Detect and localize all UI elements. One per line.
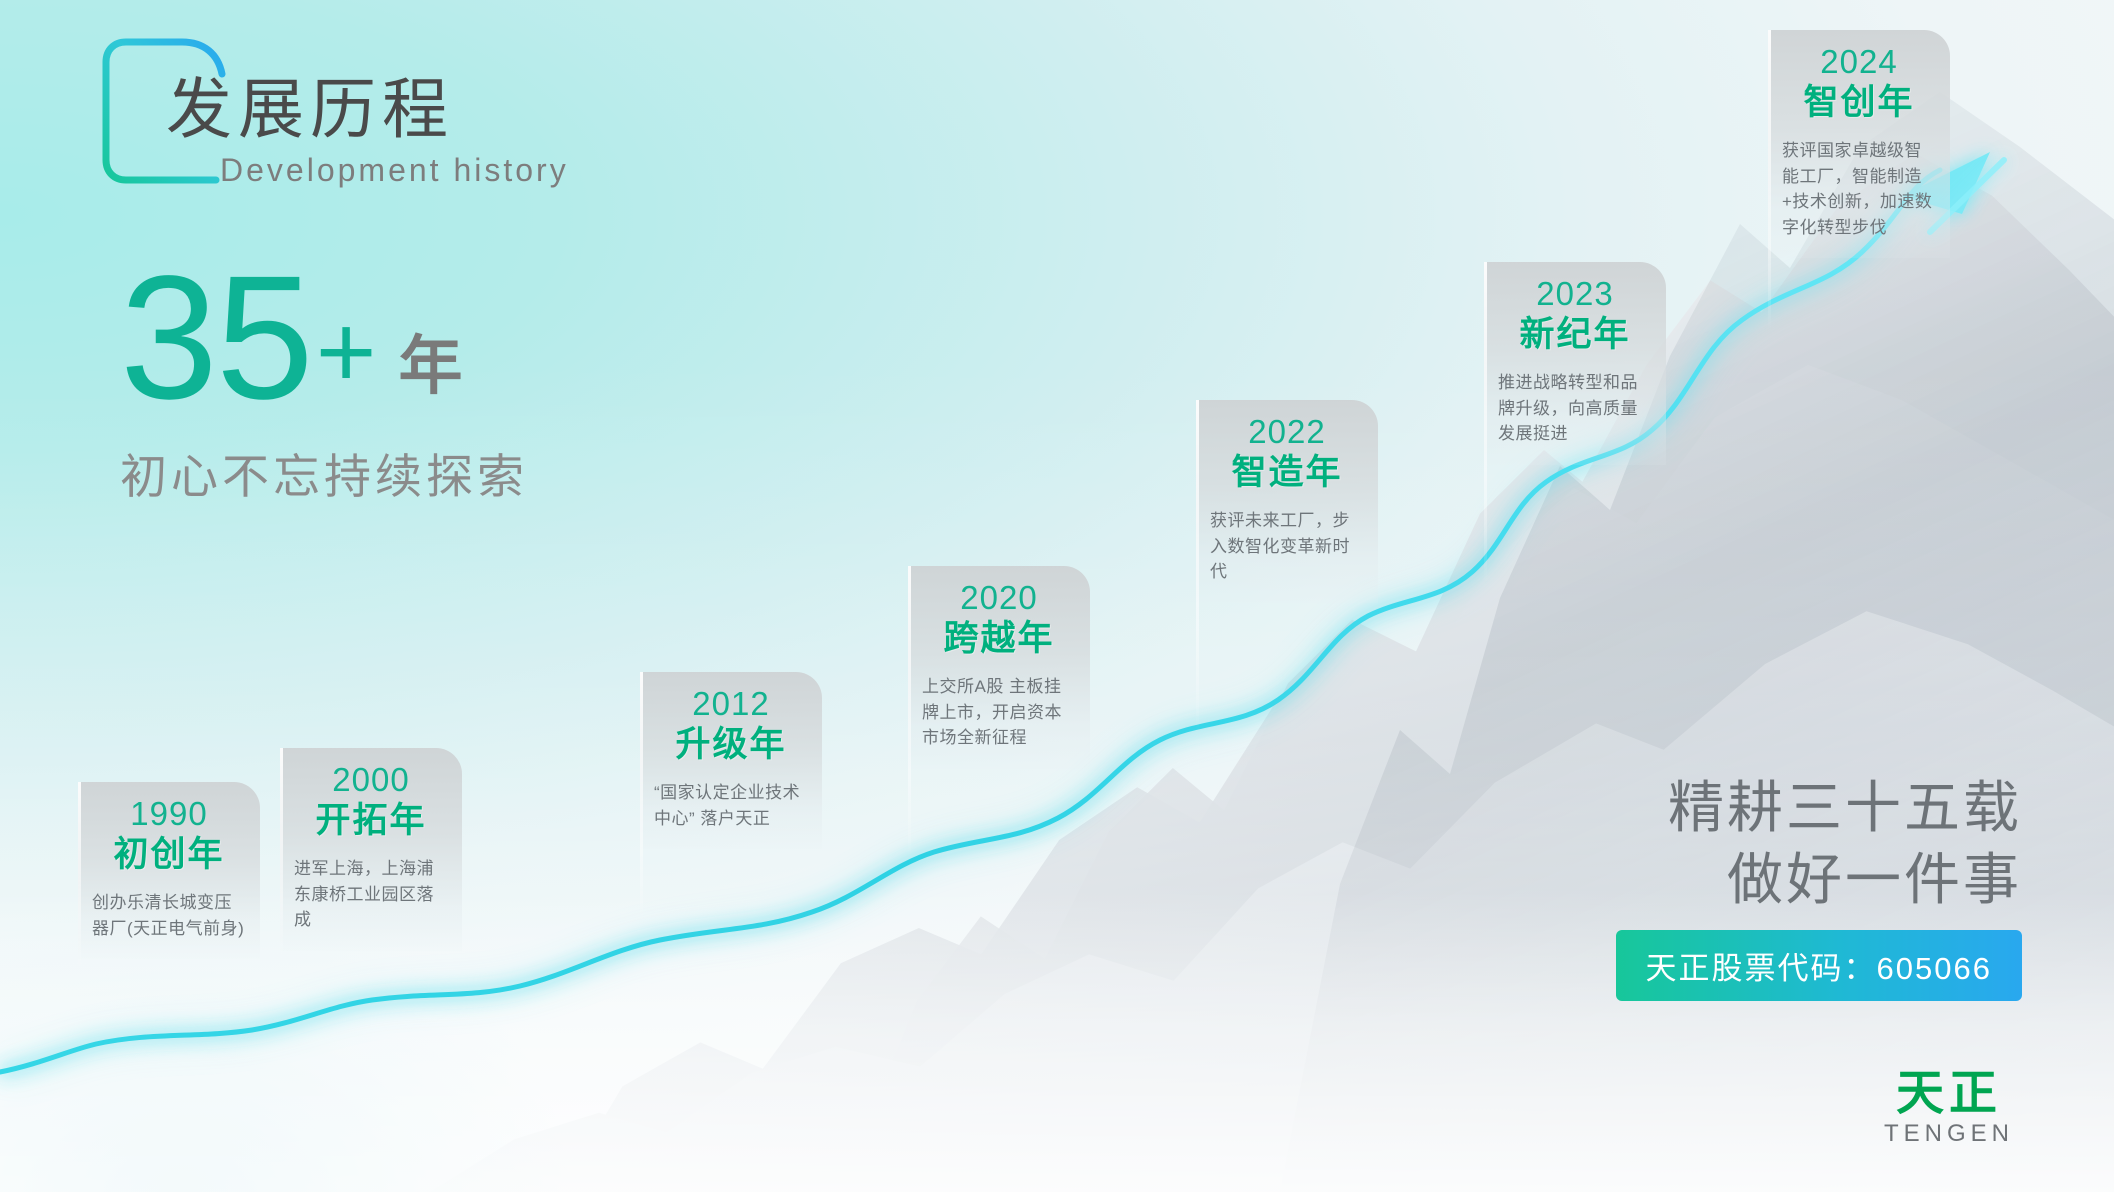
milestone-name: 跨越年 bbox=[922, 618, 1076, 660]
milestone-desc: 进军上海，上海浦东康桥工业园区落成 bbox=[294, 856, 448, 933]
logo-latin-name: TENGEN bbox=[1876, 1122, 2022, 1146]
milestone-year: 2020 bbox=[922, 580, 1076, 616]
milestone-stem-2000 bbox=[280, 748, 283, 960]
milestone-year: 2012 bbox=[654, 686, 808, 722]
milestone-card-2022[interactable]: 2022 智造年 获评未来工厂，步入数智化变革新时代 bbox=[1196, 400, 1378, 603]
brand-slogan-line-2: 做好一件事 bbox=[1668, 844, 2022, 916]
milestone-desc: 上交所A股 主板挂牌上市，开启资本市场全新征程 bbox=[922, 674, 1076, 751]
infographic-canvas: 发展历程 Development history 35 + 年 初心不忘持续探索… bbox=[0, 0, 2114, 1192]
milestone-stem-2022 bbox=[1196, 400, 1199, 730]
milestone-card-2020[interactable]: 2020 跨越年 上交所A股 主板挂牌上市，开启资本市场全新征程 bbox=[908, 566, 1090, 769]
years-unit: 年 bbox=[399, 334, 463, 398]
company-logo: 天正 TENGEN bbox=[1876, 1070, 2022, 1146]
milestone-desc: 获评未来工厂，步入数智化变革新时代 bbox=[1210, 508, 1364, 585]
milestone-stem-1990 bbox=[78, 782, 81, 970]
years-plus-sign: + bbox=[316, 300, 377, 404]
milestone-card-2023[interactable]: 2023 新纪年 推进战略转型和品牌升级，向高质量发展挺进 bbox=[1484, 262, 1666, 465]
milestone-card-2000[interactable]: 2000 开拓年 进军上海，上海浦东康桥工业园区落成 bbox=[280, 748, 462, 951]
milestone-stem-2024 bbox=[1768, 30, 1771, 330]
milestone-name: 初创年 bbox=[92, 834, 246, 876]
page-title: 发展历程 bbox=[166, 76, 454, 142]
brand-slogan-line-1: 精耕三十五载 bbox=[1668, 772, 2022, 844]
stock-code-badge: 天正股票代码：605066 bbox=[1616, 930, 2022, 1001]
milestone-year: 2023 bbox=[1498, 276, 1652, 312]
years-stat-block: 35 + 年 初心不忘持续探索 bbox=[120, 258, 640, 507]
milestone-desc: 创办乐清长城变压器厂(天正电气前身) bbox=[92, 890, 246, 941]
milestone-year: 1990 bbox=[92, 796, 246, 832]
milestone-name: 智创年 bbox=[1782, 82, 1936, 124]
milestone-desc: 获评国家卓越级智能工厂，智能制造+技术创新，加速数字化转型步伐 bbox=[1782, 138, 1936, 240]
milestone-year: 2024 bbox=[1782, 44, 1936, 80]
milestone-card-2012[interactable]: 2012 升级年 “国家认定企业技术中心” 落户天正 bbox=[640, 672, 822, 849]
brand-slogan: 精耕三十五载 做好一件事 bbox=[1668, 772, 2022, 915]
years-number: 35 bbox=[120, 258, 312, 420]
milestone-name: 新纪年 bbox=[1498, 314, 1652, 356]
page-subtitle: Development history bbox=[220, 154, 569, 186]
page-header: 发展历程 Development history bbox=[96, 24, 736, 199]
milestone-year: 2022 bbox=[1210, 414, 1364, 450]
milestone-name: 开拓年 bbox=[294, 800, 448, 842]
milestone-stem-2012 bbox=[640, 672, 643, 922]
logo-chinese-name: 天正 bbox=[1876, 1070, 2022, 1118]
milestone-name: 智造年 bbox=[1210, 452, 1364, 494]
milestone-desc: “国家认定企业技术中心” 落户天正 bbox=[654, 780, 808, 831]
years-tagline: 初心不忘持续探索 bbox=[120, 438, 640, 507]
milestone-name: 升级年 bbox=[654, 724, 808, 766]
milestone-card-1990[interactable]: 1990 初创年 创办乐清长城变压器厂(天正电气前身) bbox=[78, 782, 260, 959]
milestone-year: 2000 bbox=[294, 762, 448, 798]
milestone-stem-2023 bbox=[1484, 262, 1487, 582]
milestone-card-2024[interactable]: 2024 智创年 获评国家卓越级智能工厂，智能制造+技术创新，加速数字化转型步伐 bbox=[1768, 30, 1950, 258]
milestone-desc: 推进战略转型和品牌升级，向高质量发展挺进 bbox=[1498, 370, 1652, 447]
milestone-stem-2020 bbox=[908, 566, 911, 858]
